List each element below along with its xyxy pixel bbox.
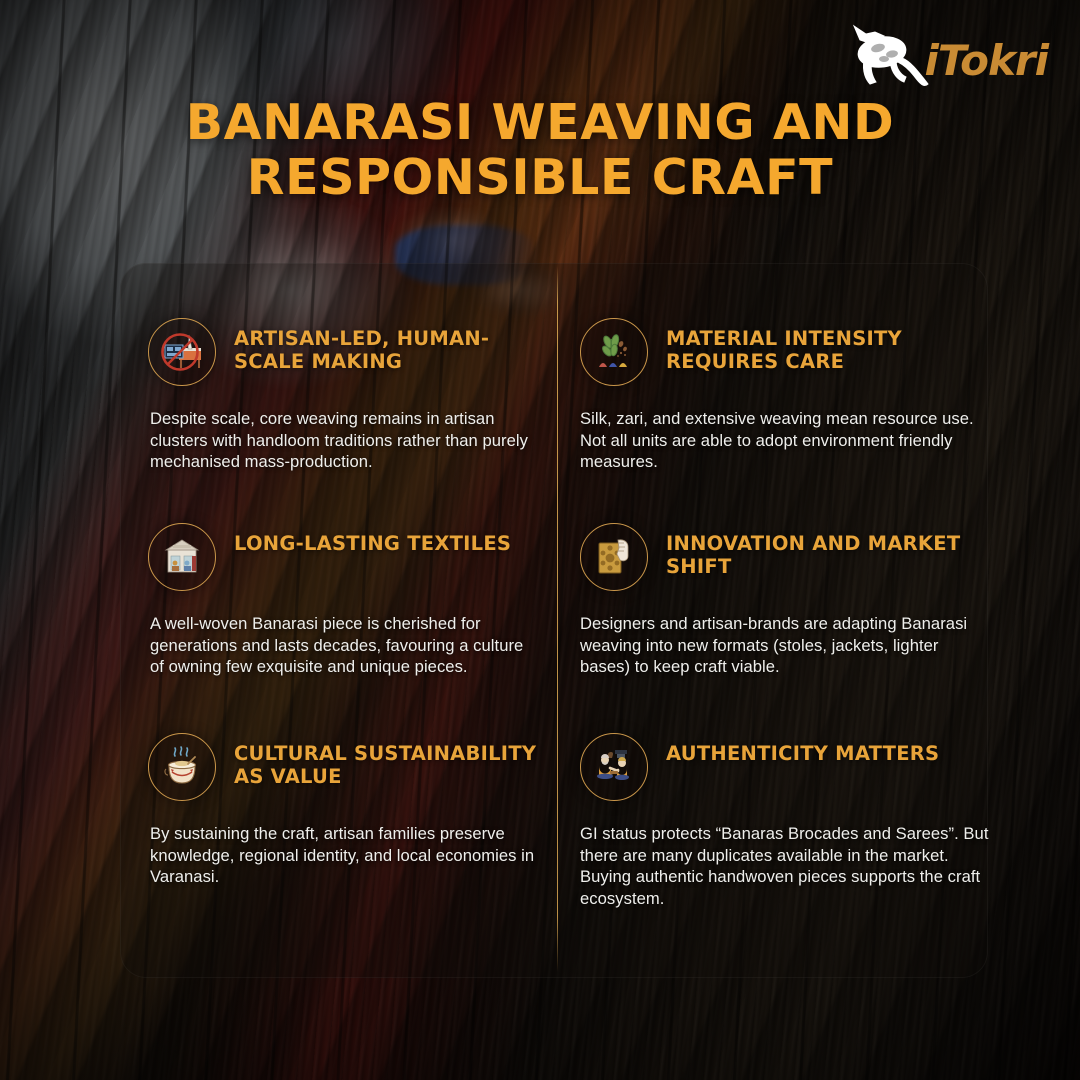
- card-title: INNOVATION AND MARKET SHIFT: [666, 523, 980, 579]
- brand-logo-text: iTokri: [924, 40, 1048, 82]
- card-header: ARTISAN-LED, HUMAN-SCALE MAKING: [148, 318, 538, 386]
- card-title: LONG-LASTING TEXTILES: [234, 523, 511, 555]
- cat-logo-icon: [842, 22, 932, 103]
- card-body: GI status protects “Banaras Brocades and…: [580, 823, 990, 909]
- card-innovation-market-shift: INNOVATION AND MARKET SHIFT Designers an…: [580, 523, 980, 678]
- steaming-clay-pot-icon: [148, 733, 216, 801]
- no-machine-loom-icon: [148, 318, 216, 386]
- card-authenticity-matters: AUTHENTICITY MATTERS GI status protects …: [580, 733, 990, 909]
- card-long-lasting-textiles: LONG-LASTING TEXTILES A well-woven Banar…: [148, 523, 538, 678]
- hand-holding-brocade-swatch-icon: [580, 523, 648, 591]
- card-header: INNOVATION AND MARKET SHIFT: [580, 523, 980, 591]
- card-body: By sustaining the craft, artisan familie…: [150, 823, 548, 888]
- craft-shop-storefront-icon: [148, 523, 216, 591]
- card-body: A well-woven Banarasi piece is cherished…: [150, 613, 538, 678]
- card-title: CULTURAL SUSTAINABILITY AS VALUE: [234, 733, 548, 789]
- card-title: MATERIAL INTENSITY REQUIRES CARE: [666, 318, 980, 374]
- brand-logo[interactable]: iTokri: [924, 40, 1048, 82]
- card-header: AUTHENTICITY MATTERS: [580, 733, 990, 801]
- two-seated-artisans-icon: [580, 733, 648, 801]
- card-cultural-sustainability: CULTURAL SUSTAINABILITY AS VALUE By sust…: [148, 733, 548, 888]
- card-body: Silk, zari, and extensive weaving mean r…: [580, 408, 980, 473]
- cards-grid: ARTISAN-LED, HUMAN-SCALE MAKING Despite …: [0, 0, 1080, 1080]
- card-header: CULTURAL SUSTAINABILITY AS VALUE: [148, 733, 548, 801]
- infographic-canvas: iTokri BANARASI WEAVING AND RESPONSIBLE …: [0, 0, 1080, 1080]
- card-body: Designers and artisan-brands are adaptin…: [580, 613, 980, 678]
- card-header: LONG-LASTING TEXTILES: [148, 523, 538, 591]
- card-title: ARTISAN-LED, HUMAN-SCALE MAKING: [234, 318, 538, 374]
- leaves-and-dye-powder-icon: [580, 318, 648, 386]
- card-header: MATERIAL INTENSITY REQUIRES CARE: [580, 318, 980, 386]
- card-title: AUTHENTICITY MATTERS: [666, 733, 939, 765]
- card-artisan-led: ARTISAN-LED, HUMAN-SCALE MAKING Despite …: [148, 318, 538, 473]
- card-material-intensity: MATERIAL INTENSITY REQUIRES CARE Silk, z…: [580, 318, 980, 473]
- card-body: Despite scale, core weaving remains in a…: [150, 408, 538, 473]
